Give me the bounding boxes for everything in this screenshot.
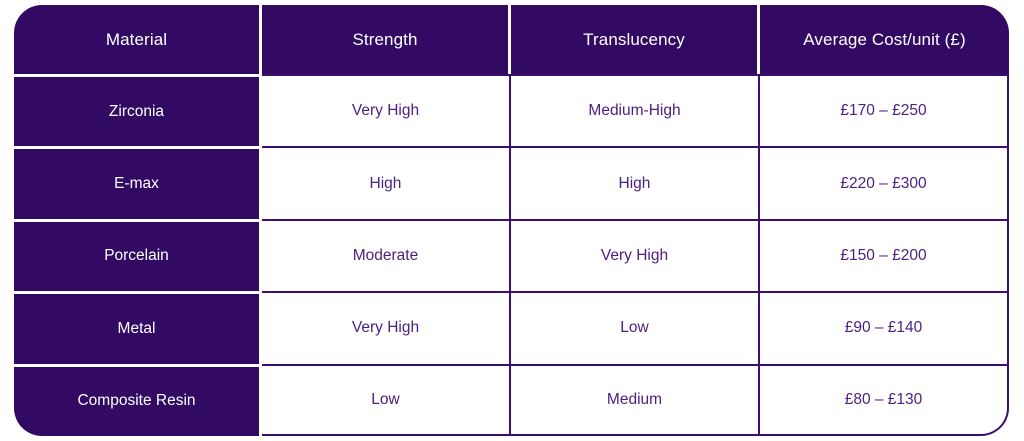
table-row: Zirconia Very High Medium-High £170 – £2… [14,74,1009,146]
comparison-table-container: Material Strength Translucency Average C… [14,5,1009,436]
cell-cost: £220 – £300 [760,146,1009,218]
column-header-cost: Average Cost/unit (£) [760,5,1009,74]
cell-translucency: Very High [511,219,760,291]
cell-material: E-max [14,146,262,218]
cell-strength: Moderate [262,219,511,291]
table-row: Porcelain Moderate Very High £150 – £200 [14,219,1009,291]
cell-material: Zirconia [14,74,262,146]
cell-material: Metal [14,291,262,363]
cell-cost: £150 – £200 [760,219,1009,291]
cell-strength: Low [262,364,511,436]
table-row: Composite Resin Low Medium £80 – £130 [14,364,1009,436]
table-body: Zirconia Very High Medium-High £170 – £2… [14,74,1009,436]
material-comparison-table: Material Strength Translucency Average C… [14,5,1009,436]
cell-strength: Very High [262,291,511,363]
column-header-translucency: Translucency [511,5,760,74]
cell-translucency: Medium [511,364,760,436]
column-header-strength: Strength [262,5,511,74]
cell-material: Porcelain [14,219,262,291]
column-header-material: Material [14,5,262,74]
header-row: Material Strength Translucency Average C… [14,5,1009,74]
cell-strength: High [262,146,511,218]
table-header: Material Strength Translucency Average C… [14,5,1009,74]
cell-translucency: High [511,146,760,218]
cell-material: Composite Resin [14,364,262,436]
cell-cost: £170 – £250 [760,74,1009,146]
cell-strength: Very High [262,74,511,146]
cell-translucency: Low [511,291,760,363]
cell-cost: £80 – £130 [760,364,1009,436]
cell-cost: £90 – £140 [760,291,1009,363]
table-row: Metal Very High Low £90 – £140 [14,291,1009,363]
cell-translucency: Medium-High [511,74,760,146]
table-row: E-max High High £220 – £300 [14,146,1009,218]
